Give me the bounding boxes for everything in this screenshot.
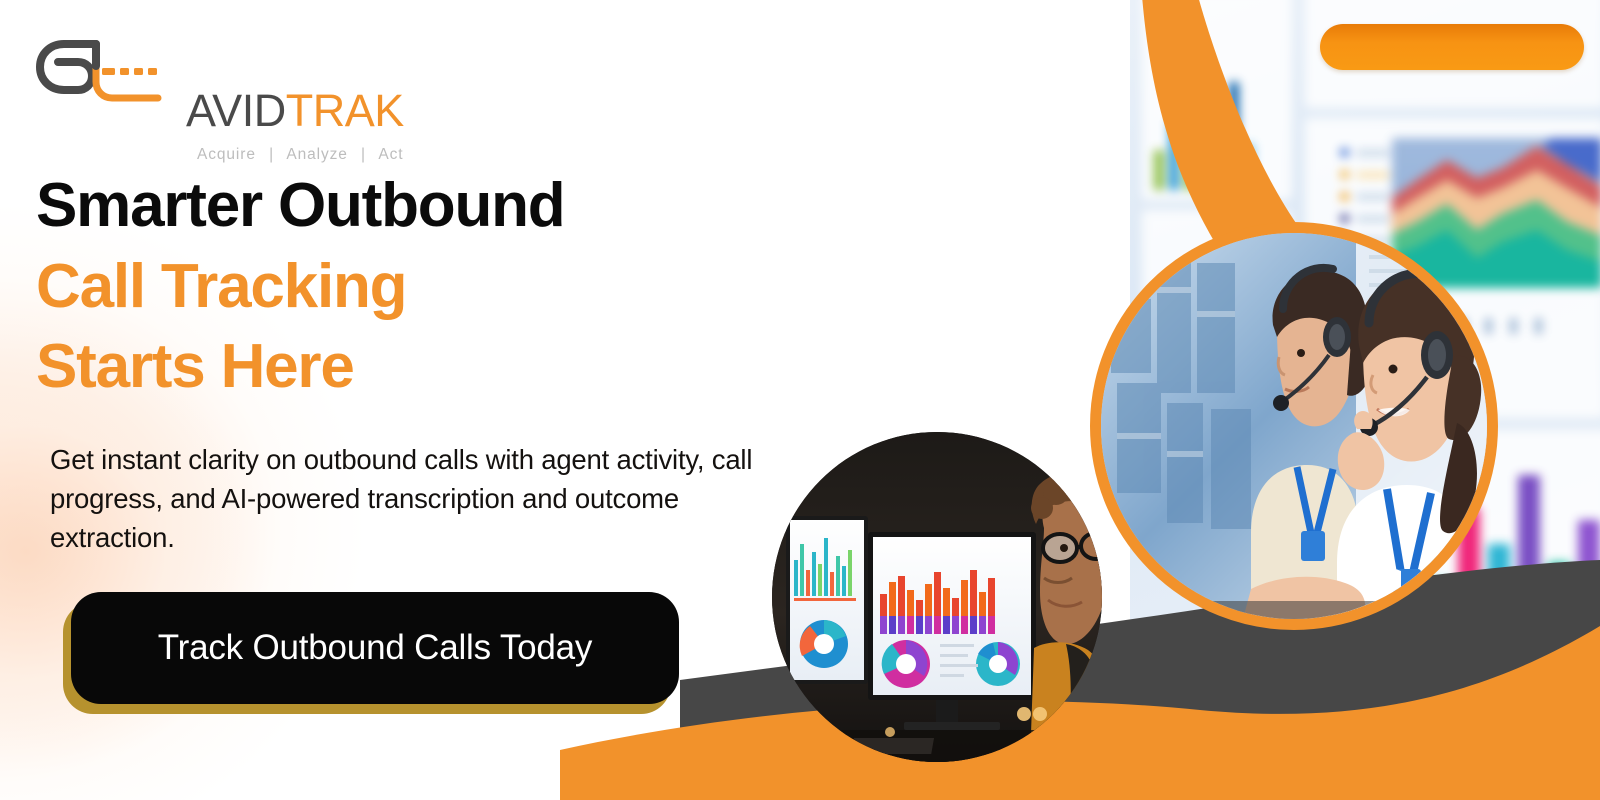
avidtrak-logo[interactable]: AVIDTRAK Acquire | Analyze | Act (34, 36, 424, 134)
tagline-acquire: Acquire (197, 146, 256, 163)
orange-pill-shape (1320, 24, 1584, 70)
analyst-photo-circle (772, 432, 1102, 762)
call-agents-photo-circle (1090, 222, 1498, 630)
hero-subtext: Get instant clarity on outbound calls wi… (50, 440, 780, 557)
headline-line-3: Starts Here (36, 327, 816, 408)
page-title: Smarter Outbound Call Tracking Starts He… (36, 166, 816, 408)
wordmark-avid: AVID (186, 85, 286, 136)
wordmark-trak: TRAK (286, 85, 404, 136)
analyst-illustration (772, 432, 1102, 762)
avidtrak-wordmark: AVIDTRAK (186, 88, 404, 133)
tagline-separator-1: | (269, 146, 274, 163)
avidtrak-a-mark (34, 36, 162, 114)
marketing-banner: AVIDTRAK Acquire | Analyze | Act Smarter… (0, 0, 1600, 800)
cta-container: Track Outbound Calls Today (63, 592, 679, 714)
track-outbound-calls-button[interactable]: Track Outbound Calls Today (71, 592, 679, 704)
headline-line-1: Smarter Outbound (36, 166, 816, 247)
brand-tagline: Acquire | Analyze | Act (197, 146, 403, 164)
tagline-analyze: Analyze (286, 146, 347, 163)
tagline-separator-2: | (361, 146, 366, 163)
tagline-act: Act (378, 146, 403, 163)
headline-line-2: Call Tracking (36, 247, 816, 328)
call-agents-illustration (1101, 233, 1487, 619)
